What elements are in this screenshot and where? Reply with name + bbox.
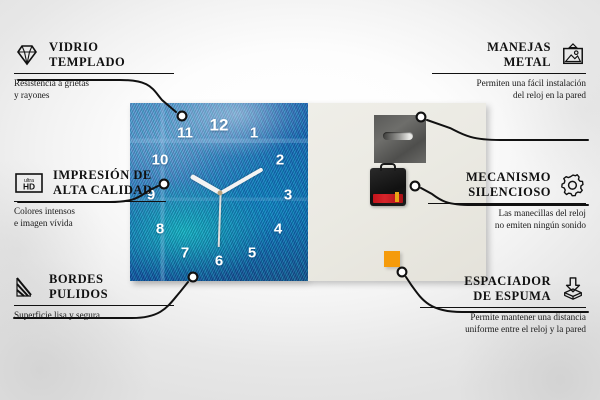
callout-desc-line2: y rayones: [14, 90, 49, 100]
callout-desc-line1: Resistencia a grietas: [14, 78, 89, 88]
callout-title-line2: METAL: [504, 55, 551, 69]
callout-title-line1: BORDES: [49, 272, 103, 286]
callout-title-line1: IMPRESIÓN DE: [53, 168, 152, 182]
clock-number: 7: [181, 246, 189, 261]
callout-desc-line1: Permiten una fácil instalación: [477, 78, 586, 88]
callout-desc-line2: e imagen vívida: [14, 218, 73, 228]
callout-title-line1: VIDRIO: [49, 40, 99, 54]
clock-number: 11: [177, 126, 193, 141]
callout-title-line2: DE ESPUMA: [473, 289, 551, 303]
callout-title-line2: PULIDOS: [49, 287, 108, 301]
infographic-canvas: 12 1 2 3 4 5 6 7 8 9 10 11: [0, 0, 600, 400]
callout-desc-line1: Colores intensos: [14, 206, 75, 216]
hanging-frame-icon: [560, 43, 586, 67]
callout-title-line2: ALTA CALIDAD: [53, 183, 152, 197]
clock-number: 6: [215, 254, 223, 269]
callout-title-line2: SILENCIOSO: [468, 185, 551, 199]
hanger-keyhole-slot: [383, 132, 413, 140]
callout-rule: [432, 73, 586, 74]
battery-label: [373, 194, 403, 203]
clock-center-pin: [218, 191, 223, 196]
clock-number: 4: [274, 222, 282, 237]
callout-spacer: ESPACIADOR DE ESPUMA Permite mantener un…: [420, 274, 586, 336]
callout-desc-line2: del reloj en la pared: [513, 90, 586, 100]
callout-desc-line1: Las manecillas del reloj: [498, 208, 586, 218]
polished-edges-icon: [14, 275, 40, 299]
foam-spacer-icon: [560, 277, 586, 301]
clock-number: 1: [250, 126, 258, 141]
clock-number: 2: [276, 153, 284, 168]
callout-desc-line2: uniforme entre el reloj y la pared: [465, 324, 586, 334]
quartz-movement-part: [370, 168, 406, 206]
callout-rule: [14, 305, 174, 306]
diamond-icon: [14, 43, 40, 67]
metal-hanger-part: [374, 115, 426, 163]
callout-rule: [14, 73, 174, 74]
callout-desc-line1: Superficie lisa y segura: [14, 310, 100, 320]
clock-number: 12: [210, 117, 229, 134]
callout-rule: [420, 307, 586, 308]
callout-title-line2: TEMPLADO: [49, 55, 125, 69]
gear-icon: [560, 173, 586, 197]
clock-number: 10: [152, 153, 169, 168]
callout-print: ultra HD IMPRESIÓN DE ALTA CALIDAD Color…: [14, 168, 166, 230]
clock-number: 3: [284, 188, 292, 203]
callout-rule: [14, 201, 166, 202]
movement-hook-tab: [380, 163, 396, 171]
callout-glass: VIDRIO TEMPLADO Resistencia a grietas y …: [14, 40, 174, 102]
callout-rule: [428, 203, 586, 204]
callout-title-line1: MECANISMO: [466, 170, 551, 184]
ultra-hd-icon: ultra HD: [14, 171, 44, 195]
callout-hangers: MANEJAS METAL Permiten una fácil instala…: [432, 40, 586, 102]
foam-spacer-part: [384, 251, 400, 267]
callout-desc-line2: no emiten ningún sonido: [495, 220, 586, 230]
callout-edges: BORDES PULIDOS Superficie lisa y segura: [14, 272, 159, 322]
svg-text:HD: HD: [23, 181, 35, 191]
callout-mechanism: MECANISMO SILENCIOSO Las manecillas del …: [428, 170, 586, 232]
callout-title-line1: ESPACIADOR: [464, 274, 551, 288]
clock-number: 5: [248, 246, 256, 261]
callout-desc-line1: Permite mantener una distancia: [470, 312, 586, 322]
callout-title-line1: MANEJAS: [487, 40, 551, 54]
